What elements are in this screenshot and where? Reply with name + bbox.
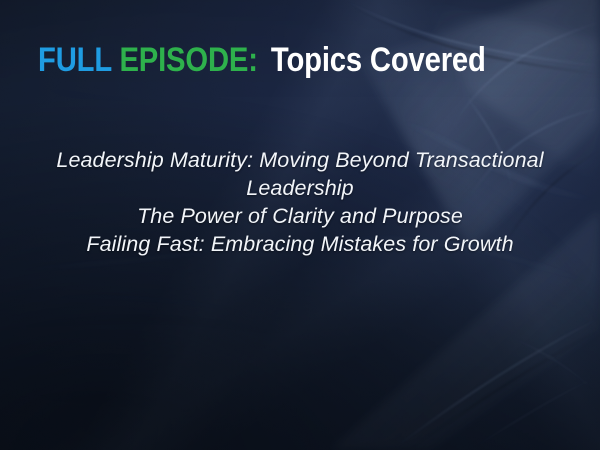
- slide-title: FULL EPISODE: Topics Covered: [38, 40, 486, 80]
- slide-canvas: FULL EPISODE: Topics Covered Leadership …: [0, 0, 600, 450]
- topic-line: Failing Fast: Embracing Mistakes for Gro…: [0, 230, 600, 258]
- title-segment-subject: Topics Covered: [271, 41, 486, 79]
- topic-line: Leadership: [0, 174, 600, 202]
- topic-line: Leadership Maturity: Moving Beyond Trans…: [0, 146, 600, 174]
- topics-list: Leadership Maturity: Moving Beyond Trans…: [0, 146, 600, 258]
- title-segment-full: FULL: [38, 41, 111, 79]
- topic-line: The Power of Clarity and Purpose: [0, 202, 600, 230]
- title-segment-episode: EPISODE:: [119, 41, 257, 79]
